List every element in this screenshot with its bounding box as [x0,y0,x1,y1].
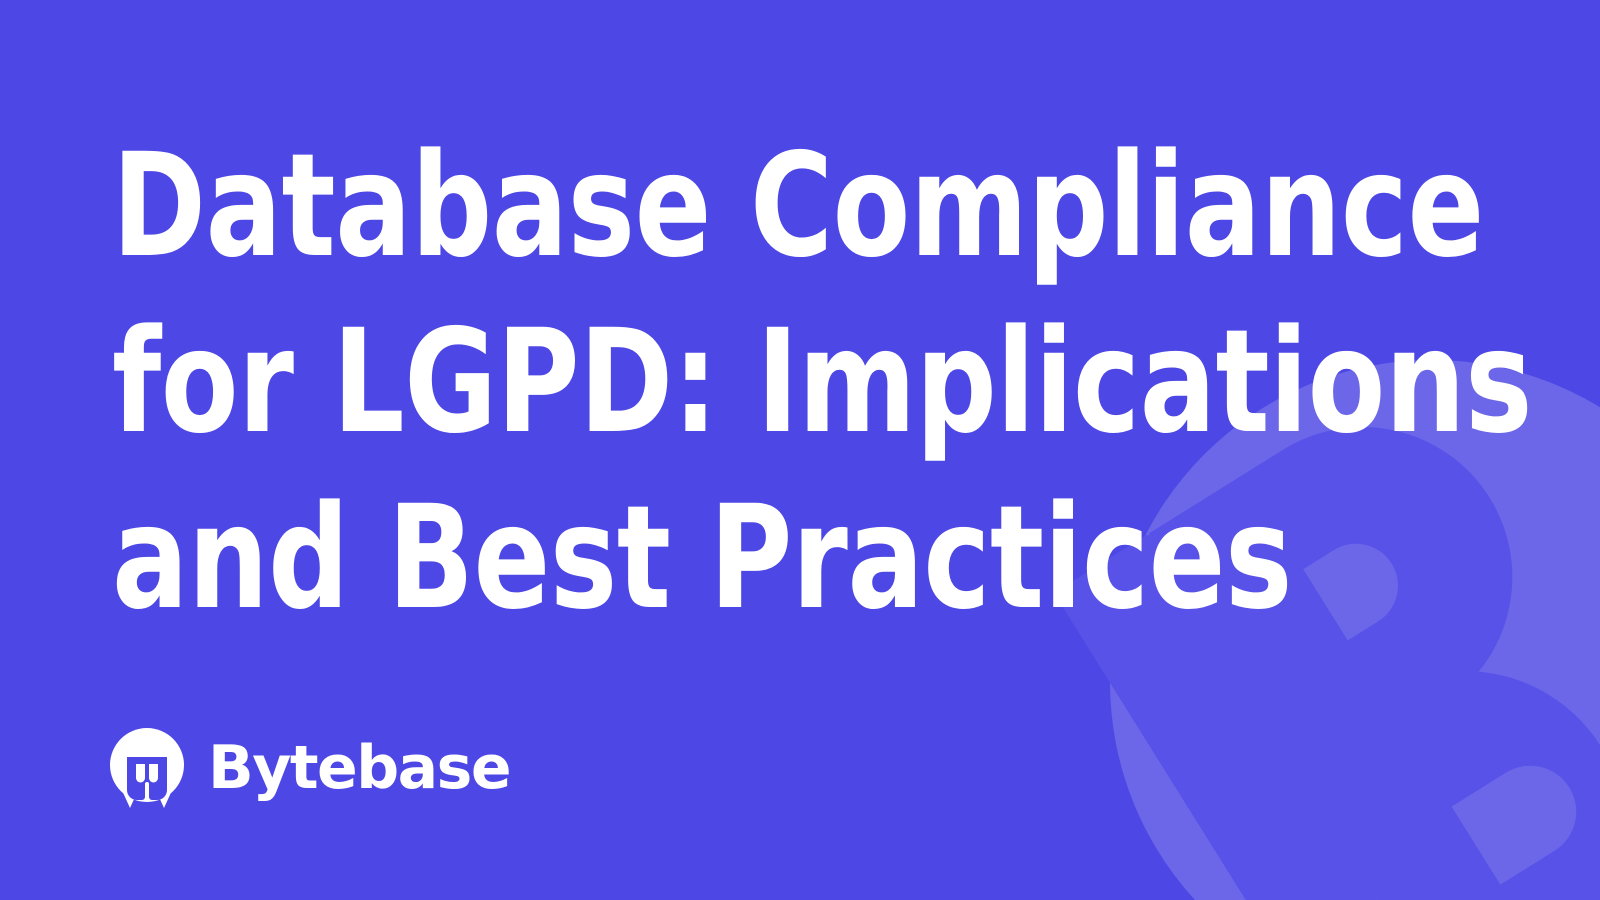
bytebase-wordmark: Bytebase [208,738,510,798]
bytebase-logo-mark-icon [110,728,184,808]
page-title: Database Compliance for LGPD: Implicatio… [112,118,1402,646]
og-banner: Database Compliance for LGPD: Implicatio… [0,0,1600,900]
headline-line-3: and Best Practices [112,470,1247,646]
headline-line-1: Database Compliance [112,118,1247,294]
headline-line-2: for LGPD: Implications [112,294,1247,470]
brand-lockup: Bytebase [110,728,510,808]
